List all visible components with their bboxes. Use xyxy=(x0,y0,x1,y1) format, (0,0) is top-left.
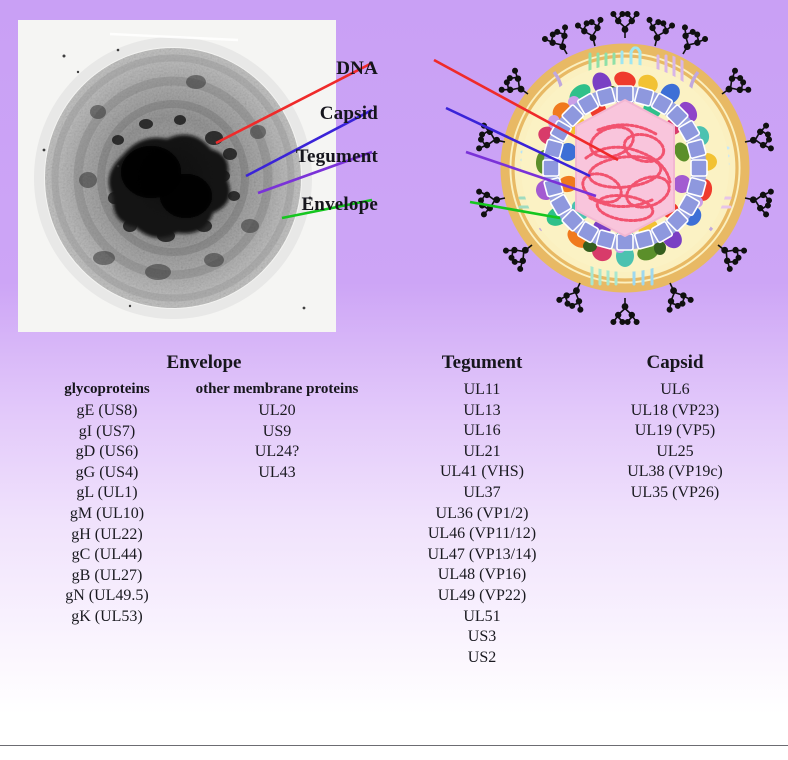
list-item: gE (US8) xyxy=(34,401,180,422)
subcolumn-other-membrane-proteins: other membrane proteins UL20 US9 UL24? U… xyxy=(180,380,374,628)
list-item: UL37 xyxy=(382,483,582,504)
list-item: UL47 (VP13/14) xyxy=(382,545,582,566)
list-item: gB (UL27) xyxy=(34,566,180,587)
list-item: UL13 xyxy=(382,401,582,422)
list-item: gL (UL1) xyxy=(34,483,180,504)
list-item: UL51 xyxy=(382,607,582,628)
list-item: gN (UL49.5) xyxy=(34,586,180,607)
list-item: UL38 (VP19c) xyxy=(570,462,780,483)
subcolumn-header-other-membrane-proteins: other membrane proteins xyxy=(180,380,374,399)
list-item: UL18 (VP23) xyxy=(570,401,780,422)
list-item: UL6 xyxy=(570,380,780,401)
list-item: gH (UL22) xyxy=(34,525,180,546)
column-header-tegument: Tegument xyxy=(382,352,582,374)
table-column-capsid: Capsid UL6 UL18 (VP23) UL19 (VP5) UL25 U… xyxy=(570,352,780,504)
list-item: gI (US7) xyxy=(34,422,180,443)
list-item: UL21 xyxy=(382,442,582,463)
slide-bottom-rule xyxy=(0,745,788,746)
list-item: gM (UL10) xyxy=(34,504,180,525)
list-item: UL36 (VP1/2) xyxy=(382,504,582,525)
list-item: gD (US6) xyxy=(34,442,180,463)
list-item: US9 xyxy=(180,422,374,443)
callout-label-dna: DNA xyxy=(268,58,378,80)
list-item: UL16 xyxy=(382,421,582,442)
list-item: gK (UL53) xyxy=(34,607,180,628)
column-header-envelope: Envelope xyxy=(34,352,374,374)
list-item: UL24? xyxy=(180,442,374,463)
list-item: UL41 (VHS) xyxy=(382,462,582,483)
list-item: UL46 (VP11/12) xyxy=(382,524,582,545)
list-item: US3 xyxy=(382,627,582,648)
list-item: UL19 (VP5) xyxy=(570,421,780,442)
list-item: gG (US4) xyxy=(34,463,180,484)
callout-label-capsid: Capsid xyxy=(248,103,378,125)
table-column-tegument: Tegument UL11 UL13 UL16 UL21 UL41 (VHS) … xyxy=(382,352,582,668)
virion-protein-tables: Envelope glycoproteins gE (US8) gI (US7)… xyxy=(0,352,788,692)
list-item: UL35 (VP26) xyxy=(570,483,780,504)
column-header-capsid: Capsid xyxy=(570,352,780,374)
list-item: gC (UL44) xyxy=(34,545,180,566)
list-item: UL49 (VP22) xyxy=(382,586,582,607)
list-item: UL11 xyxy=(382,380,582,401)
list-item: UL48 (VP16) xyxy=(382,565,582,586)
slide-canvas: DNA Capsid Tegument Envelope Envelope gl… xyxy=(0,0,788,744)
list-item: UL25 xyxy=(570,442,780,463)
subcolumn-header-glycoproteins: glycoproteins xyxy=(34,380,180,399)
list-item: UL20 xyxy=(180,401,374,422)
subcolumn-glycoproteins: glycoproteins gE (US8) gI (US7) gD (US6)… xyxy=(34,380,180,628)
list-item: US2 xyxy=(382,648,582,669)
table-column-envelope: Envelope glycoproteins gE (US8) gI (US7)… xyxy=(34,352,374,628)
callout-label-tegument: Tegument xyxy=(228,146,378,168)
callout-label-envelope: Envelope xyxy=(228,194,378,216)
callout-labels: DNA Capsid Tegument Envelope xyxy=(0,0,788,340)
list-item: UL43 xyxy=(180,463,374,484)
